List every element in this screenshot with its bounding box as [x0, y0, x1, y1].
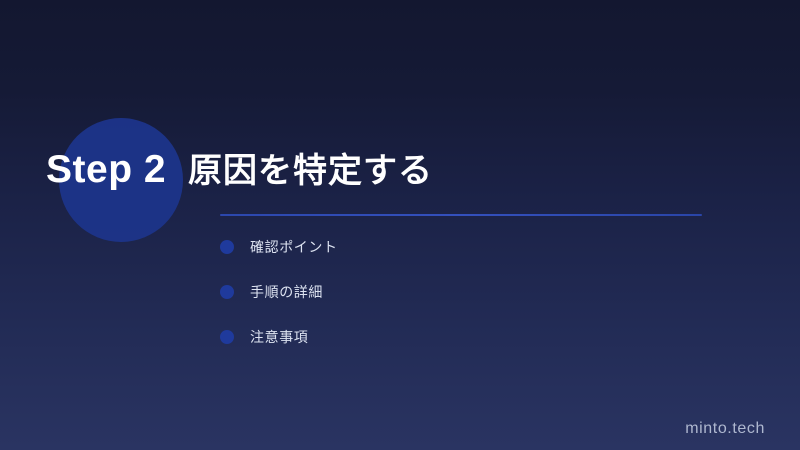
bullet-list: 確認ポイント 手順の詳細 注意事項: [220, 233, 338, 368]
list-item: 注意事項: [220, 323, 338, 351]
list-item-label: 確認ポイント: [250, 237, 338, 257]
list-item-label: 注意事項: [250, 327, 308, 347]
page-title: 原因を特定する: [188, 147, 433, 195]
bullet-dot-icon: [220, 285, 234, 299]
list-item-label: 手順の詳細: [250, 282, 323, 302]
step-label: Step 2: [46, 146, 166, 194]
headline-row: Step 2 原因を特定する: [46, 146, 433, 195]
footer-brand: minto.tech: [685, 420, 765, 438]
bullet-dot-icon: [220, 330, 234, 344]
list-item: 確認ポイント: [220, 233, 338, 261]
bullet-dot-icon: [220, 240, 234, 254]
title-divider: [220, 214, 702, 216]
list-item: 手順の詳細: [220, 278, 338, 306]
presentation-slide: Step 2 原因を特定する 確認ポイント 手順の詳細 注意事項 minto.t…: [0, 0, 800, 450]
slide-content: Step 2 原因を特定する 確認ポイント 手順の詳細 注意事項 minto.t…: [0, 0, 800, 450]
